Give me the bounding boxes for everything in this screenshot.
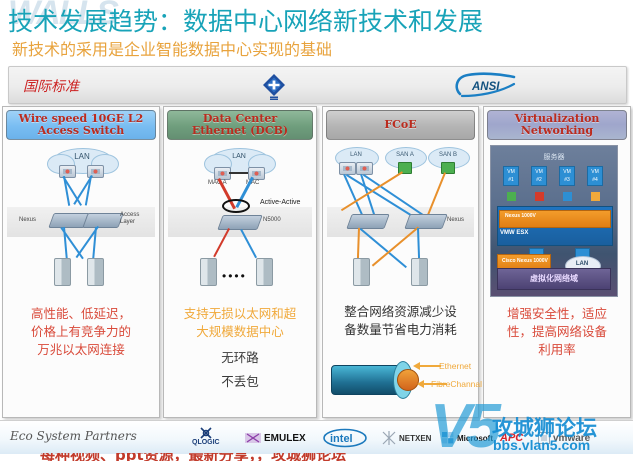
emulex-mark xyxy=(245,432,261,444)
ansi-logo: ANSI xyxy=(452,72,522,98)
switch-icon xyxy=(404,214,447,229)
column-fcoe[interactable]: FCoE LAN SAN A SAN B Nexus xyxy=(322,106,479,418)
server-icon xyxy=(87,258,104,286)
caption-line: 大规模数据中心 xyxy=(170,323,310,341)
netxen-mark xyxy=(382,431,396,445)
router-icon xyxy=(356,162,373,175)
intel-logo: intel xyxy=(322,427,368,449)
vnic-green xyxy=(507,192,516,201)
access-layer-label: Access Layer xyxy=(120,212,152,226)
header-line-2: Ethernet (DCB) xyxy=(192,124,288,137)
vmw-esx-label: VMW ESX xyxy=(500,230,528,236)
column-caption-fcoe: 整合网络资源减少设 备数量节省电力消耗 xyxy=(329,303,472,339)
arrow-fibrechannel xyxy=(417,380,424,388)
vm-label: VM #4 xyxy=(591,169,599,183)
diagram-access-switch: LAN Nexus Access Layer xyxy=(7,145,155,300)
bottom-cut-strip: 每种视频、ppt资源，最新分享，，攻城狮论坛 xyxy=(0,453,633,461)
lan-cloud-label: LAN xyxy=(335,152,377,158)
fcoe-cable-illustration xyxy=(331,359,426,399)
vm-box: VM #4 xyxy=(587,166,603,186)
caption-subline: 无环路 xyxy=(170,349,310,367)
active-active-label: Active-Active xyxy=(260,199,300,206)
router-icon xyxy=(339,162,356,175)
column-caption-virtualization: 增强安全性，适应 性，提高网络设备 利用率 xyxy=(490,305,624,359)
caption-line: 价格上有竞争力的 xyxy=(9,323,153,341)
caption-line: 利用率 xyxy=(490,341,624,359)
page-subtitle: 新技术的采用是企业智能数据中心实现的基础 xyxy=(12,36,332,60)
column-virtualization-networking[interactable]: Virtualization Networking 服务器 VM #1 VM #… xyxy=(483,106,631,418)
watermark-v5-logo: V5 xyxy=(430,396,496,458)
active-active-marker xyxy=(222,199,250,213)
lan-cloud-label: LAN xyxy=(57,152,107,161)
server-icon xyxy=(200,258,217,286)
arrow-line-ethernet xyxy=(419,365,441,367)
caption-line: 支持无损以太网和超 xyxy=(170,305,310,323)
cable-label-fibrechannel: FibreChannal xyxy=(431,379,482,389)
watermark-url: bbs.vlan5.com xyxy=(493,437,590,453)
server-icon xyxy=(256,258,273,286)
slide-canvas: WALLS 技术发展趋势：数据中心网络新技术和发展 新技术的采用是企业智能数据中… xyxy=(0,0,633,461)
link-line xyxy=(85,176,92,206)
column-header-fcoe: FCoE xyxy=(326,110,475,140)
router-interlink xyxy=(229,172,248,174)
caption-line: 整合网络资源减少设 xyxy=(329,303,472,321)
intel-mark: intel xyxy=(322,428,368,448)
arrow-ethernet xyxy=(413,362,420,370)
nexus-label: Nexus xyxy=(19,217,36,223)
san-a-label: SAN A xyxy=(385,152,425,158)
diagram-virtualization: 服务器 VM #1 VM #2 VM #3 VM #4 Nexus 1000V … xyxy=(490,145,618,297)
switch-icon xyxy=(217,215,262,230)
column-caption-wire-speed: 高性能、低延迟， 价格上有竞争力的 万兆以太网连接 xyxy=(9,305,153,359)
eco-partners-title: Eco System Partners xyxy=(10,429,137,443)
caption-line: 高性能、低延迟， xyxy=(9,305,153,323)
vnic-orange xyxy=(591,192,600,201)
column-header-wire-speed: Wire speed 10GE L2 Access Switch xyxy=(6,110,156,140)
switch-icon xyxy=(82,213,123,228)
vm-box: VM #1 xyxy=(503,166,519,186)
san-b-label: SAN B xyxy=(428,152,468,158)
server-icon xyxy=(54,258,71,286)
svg-text:intel: intel xyxy=(330,433,353,445)
caption-line: 性，提高网络设备 xyxy=(490,323,624,341)
column-wire-speed-10ge[interactable]: Wire speed 10GE L2 Access Switch LAN Nex… xyxy=(2,106,160,418)
server-label: 服务器 xyxy=(491,152,617,162)
emulex-logo: EMULEX xyxy=(245,427,306,449)
nexus-1000v-label: Nexus 1000V xyxy=(505,213,536,219)
server-icon xyxy=(411,258,428,286)
vnic-blue xyxy=(563,192,572,201)
vnic-red xyxy=(535,192,544,201)
lan-cloud-label: LAN xyxy=(216,153,262,160)
standards-bar: 国际标准 ANSI xyxy=(8,66,627,104)
cable-label-ethernet: Ethernet xyxy=(439,361,471,371)
cable-core xyxy=(397,369,419,391)
n5000-label: N5000 xyxy=(263,217,281,223)
bottom-cut-text: 每种视频、ppt资源，最新分享，，攻城狮论坛 xyxy=(40,453,346,461)
column-data-center-ethernet[interactable]: Data Center Ethernet (DCB) LAN MAC A MAC… xyxy=(163,106,317,418)
vm-box: VM #2 xyxy=(531,166,547,186)
vm-label: VM #1 xyxy=(507,169,515,183)
qlogic-logo: QLOGIC xyxy=(192,427,220,449)
standards-label: 国际标准 xyxy=(23,76,79,96)
netxen-logo: NETXEN xyxy=(382,427,431,449)
caption-subline: 不丢包 xyxy=(170,373,310,391)
ieee-logo xyxy=(259,71,289,101)
header-line-1: FCoE xyxy=(384,119,416,131)
caption-line: 备数量节省电力消耗 xyxy=(329,321,472,339)
caption-line: 万兆以太网连接 xyxy=(9,341,153,359)
diagram-dcb: LAN MAC A MAC Active-Active N5000 •••• xyxy=(168,145,312,300)
column-header-dcb: Data Center Ethernet (DCB) xyxy=(167,110,313,140)
ellipsis-dots: •••• xyxy=(222,269,247,283)
column-caption-dcb: 支持无损以太网和超 大规模数据中心 无环路 不丢包 xyxy=(170,305,310,392)
vm-box: VM #3 xyxy=(559,166,575,186)
qlogic-label: QLOGIC xyxy=(192,439,220,446)
cisco-nexus-label: Cisco Nexus 1000V xyxy=(502,258,548,264)
server-icon xyxy=(353,258,370,286)
virtual-network-domain-label: 虚拟化网络域 xyxy=(497,268,611,290)
switch-icon xyxy=(346,214,389,229)
vm-label: VM #3 xyxy=(563,169,571,183)
page-title: 技术发展趋势：数据中心网络新技术和发展 xyxy=(8,2,483,38)
header-line-2: Networking xyxy=(521,124,593,137)
qlogic-mark xyxy=(198,427,214,439)
netxen-label: NETXEN xyxy=(399,434,431,443)
svg-text:ANSI: ANSI xyxy=(471,81,500,93)
emulex-label: EMULEX xyxy=(264,433,306,444)
diagram-fcoe: LAN SAN A SAN B Nexus xyxy=(327,145,474,300)
header-line-2: Access Switch xyxy=(38,124,125,137)
lan-cloud-label: LAN xyxy=(565,261,599,267)
vm-label: VM #2 xyxy=(535,169,543,183)
column-header-virtualization: Virtualization Networking xyxy=(487,110,627,140)
caption-line: 增强安全性，适应 xyxy=(490,305,624,323)
nexus-label: Nexus xyxy=(447,217,464,223)
